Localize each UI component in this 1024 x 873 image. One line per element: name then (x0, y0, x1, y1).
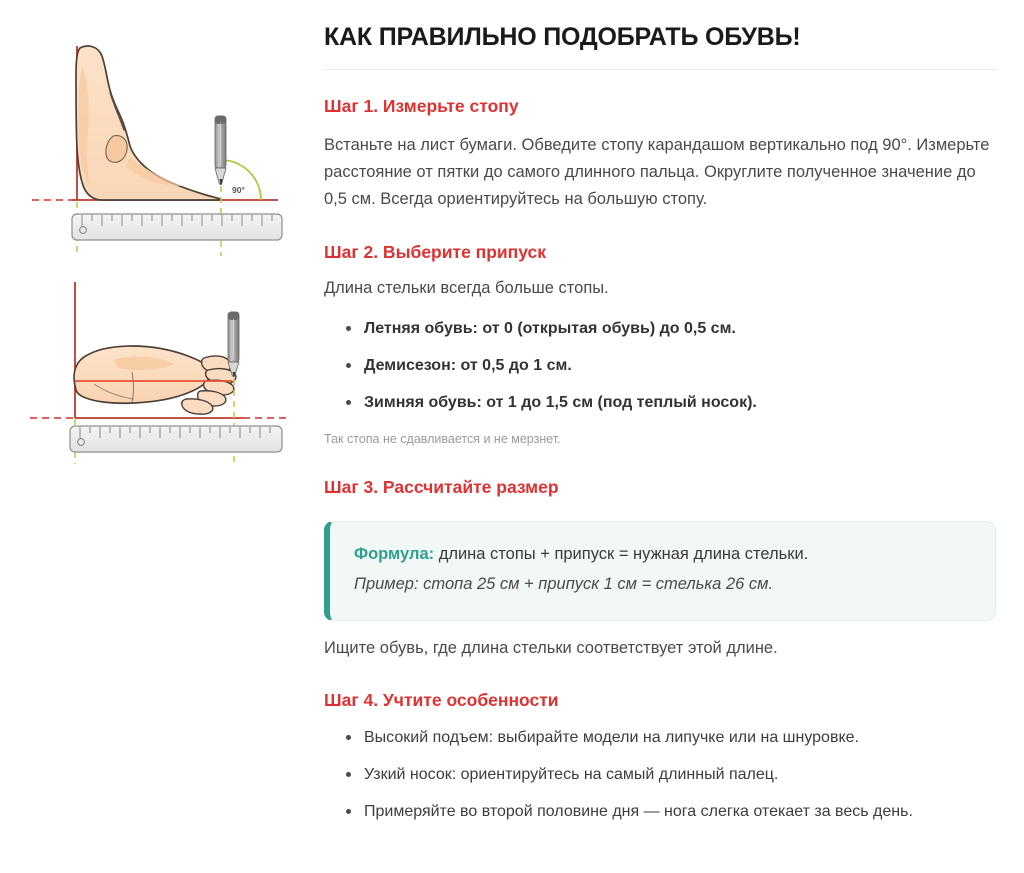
content-column: КАК ПРАВИЛЬНО ПОДОБРАТЬ ОБУВЬ! Шаг 1. Из… (320, 0, 1024, 824)
formula-label: Формула: (354, 545, 434, 563)
step-3-heading: Шаг 3. Рассчитайте размер (324, 477, 998, 499)
pencil-icon (215, 116, 226, 185)
foot-sole-view-diagram (10, 272, 310, 472)
formula-text: длина стопы + припуск = нужная длина сте… (434, 545, 808, 563)
formula-line: Формула: длина стопы + припуск = нужная … (354, 542, 971, 568)
step-1-heading: Шаг 1. Измерьте стопу (324, 96, 998, 118)
step-2-paragraph: Длина стельки всегда больше стопы. (324, 275, 998, 302)
step-2-heading: Шаг 2. Выберите припуск (324, 242, 998, 264)
list-item: Узкий носок: ориентируйтесь на самый дли… (346, 763, 998, 786)
step-2-bullet-list: Летняя обувь: от 0 (открытая обувь) до 0… (324, 317, 998, 415)
step-1-paragraph: Встаньте на лист бумаги. Обведите стопу … (324, 132, 998, 214)
foot-side-view-diagram: 90° (10, 18, 310, 268)
title-divider (324, 69, 998, 70)
ruler-icon (72, 214, 282, 240)
list-item: Зимняя обувь: от 1 до 1,5 см (под теплый… (346, 391, 998, 414)
list-item: Летняя обувь: от 0 (открытая обувь) до 0… (346, 317, 998, 340)
step-4-heading: Шаг 4. Учтите особенности (324, 690, 998, 712)
page-title: КАК ПРАВИЛЬНО ПОДОБРАТЬ ОБУВЬ! (324, 22, 998, 52)
step-4-bullet-list: Высокий подъем: выбирайте модели на липу… (324, 726, 998, 824)
ruler-icon (70, 426, 282, 452)
guide-page: 90° (0, 0, 1024, 873)
angle-label-90: 90° (232, 185, 245, 195)
step-2-note: Так стопа не сдавливается и не мерзнет. (324, 430, 998, 449)
pencil-icon (228, 312, 239, 377)
list-item: Высокий подъем: выбирайте модели на липу… (346, 726, 998, 749)
formula-example: Пример: стопа 25 см + припуск 1 см = сте… (354, 572, 971, 598)
illustration-column: 90° (0, 0, 320, 472)
foot-sole-silhouette (74, 346, 211, 403)
step-3-paragraph-after: Ищите обувь, где длина стельки соответст… (324, 635, 998, 662)
list-item: Примеряйте во второй половине дня — нога… (346, 800, 998, 823)
list-item: Демисезон: от 0,5 до 1 см. (346, 354, 998, 377)
formula-callout: Формула: длина стопы + припуск = нужная … (324, 521, 996, 621)
